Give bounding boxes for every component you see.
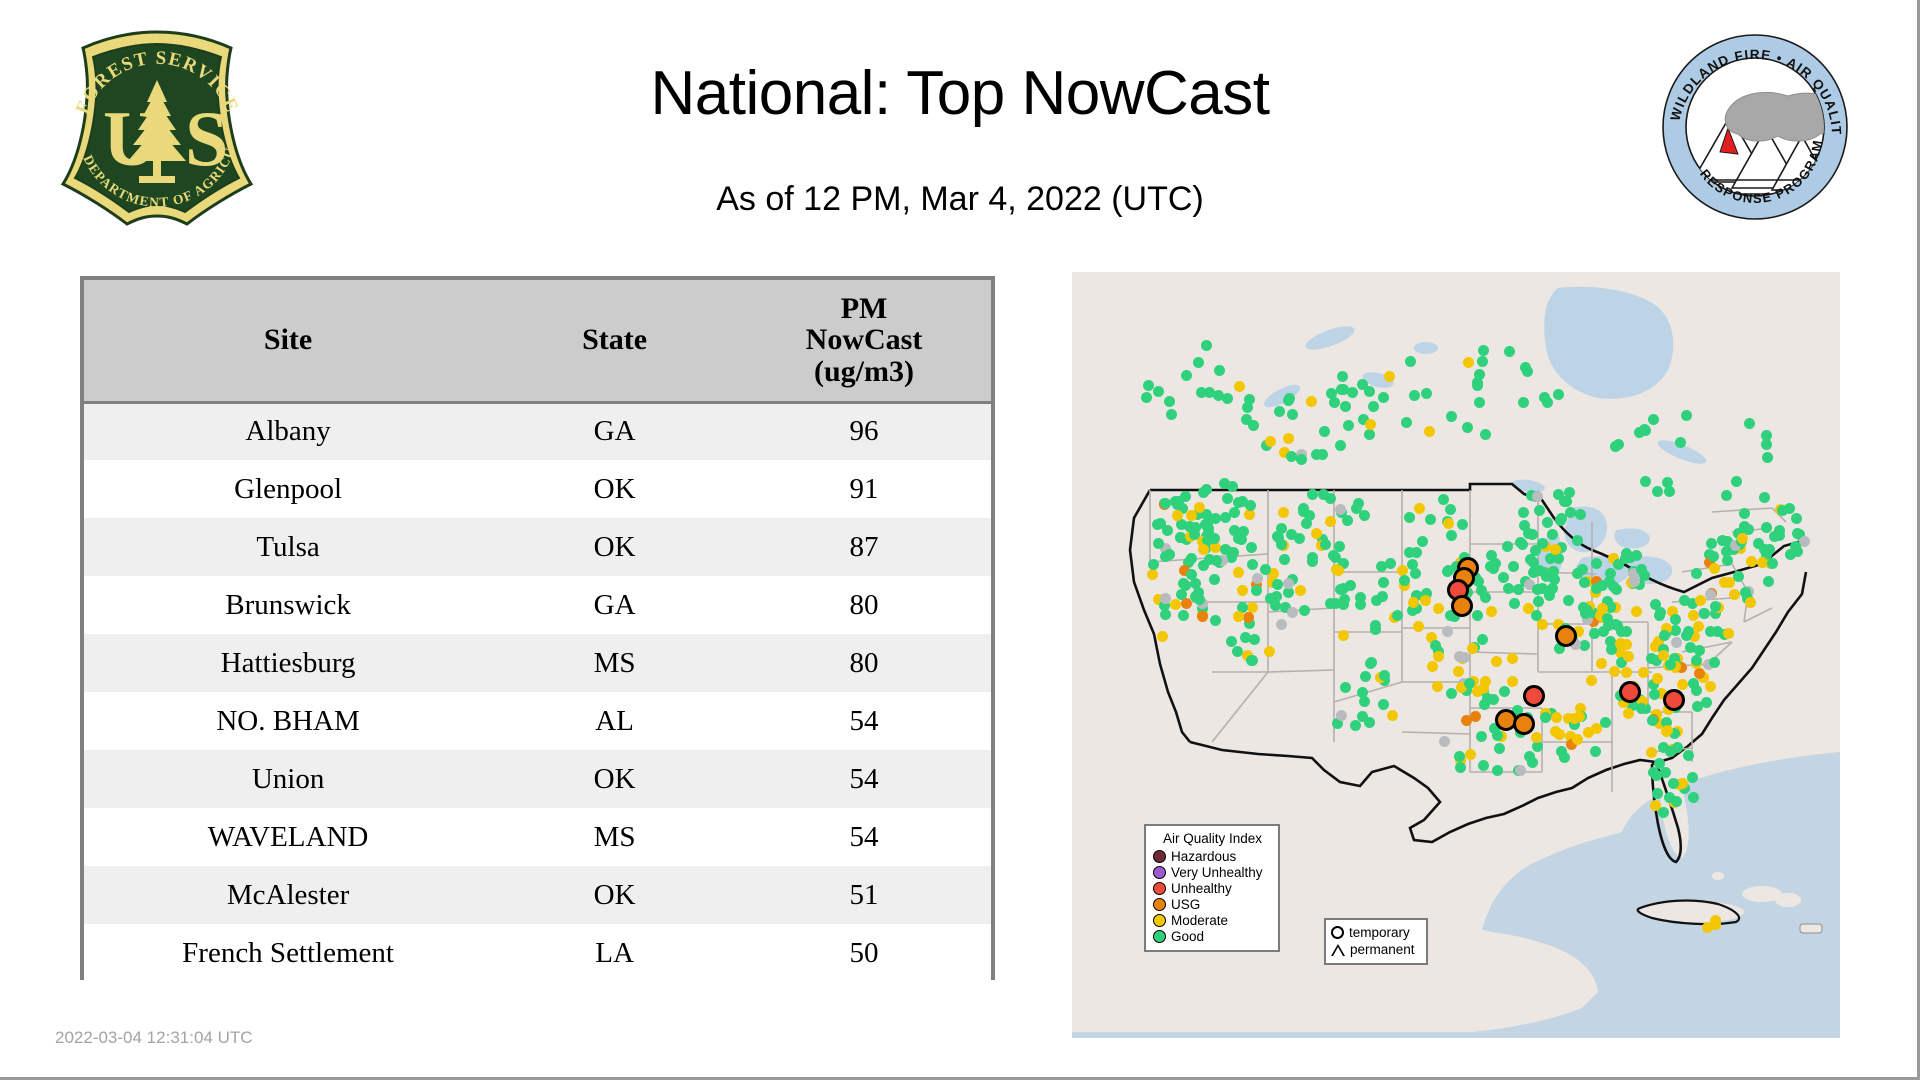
- monitor-dot: [1744, 418, 1755, 429]
- monitor-dot: [1474, 397, 1485, 408]
- legend-label: Unhealthy: [1171, 881, 1232, 896]
- monitor-dot: [1792, 528, 1803, 539]
- monitor-dot: [1287, 607, 1298, 618]
- monitor-dot: [1479, 699, 1490, 710]
- monitor-dot: [1371, 595, 1382, 606]
- monitor-dot: [1706, 538, 1717, 549]
- monitor-dot: [1575, 509, 1586, 520]
- monitor-dot: [1721, 546, 1732, 557]
- monitor-dot: [1691, 568, 1702, 579]
- monitor-dot: [1709, 563, 1720, 574]
- monitor-dot: [1410, 568, 1421, 579]
- cell-state: MS: [492, 634, 737, 692]
- monitor-dot: [1246, 542, 1257, 553]
- monitor-dot: [1283, 433, 1294, 444]
- legend-item-unhealthy: Unhealthy: [1153, 880, 1272, 896]
- monitor-dot: [1160, 593, 1171, 604]
- monitor-dot: [1488, 694, 1499, 705]
- legend-item-very-unhealthy: Very Unhealthy: [1153, 864, 1272, 880]
- monitor-dot: [1446, 530, 1457, 541]
- monitor-dot: [1504, 346, 1515, 357]
- cell-site: Hattiesburg: [84, 634, 492, 692]
- monitor-dot: [1424, 426, 1435, 437]
- cell-state: LA: [492, 924, 737, 982]
- column-header-site: Site: [84, 280, 492, 402]
- monitor-dot: [1457, 519, 1468, 530]
- monitor-dot: [1508, 561, 1519, 572]
- legend-swatch-icon: [1153, 914, 1166, 927]
- monitor-dot: [1695, 595, 1706, 606]
- monitor-dot: [1631, 606, 1642, 617]
- monitor-dot: [1729, 589, 1740, 600]
- monitor-dot: [1549, 574, 1560, 585]
- monitor-dot: [1247, 559, 1258, 570]
- monitor-dot: [1671, 796, 1682, 807]
- monitor-dot: [1621, 548, 1632, 559]
- cell-value: 80: [737, 576, 991, 634]
- monitor-dot: [1688, 678, 1699, 689]
- table-row: TulsaOK87: [84, 518, 991, 576]
- monitor-dot: [1338, 630, 1349, 641]
- monitor-dot: [1461, 715, 1472, 726]
- monitor-dot: [1623, 651, 1634, 662]
- monitor-dot: [1164, 396, 1175, 407]
- legend-title: Air Quality Index: [1153, 831, 1272, 846]
- monitor-dot: [1739, 508, 1750, 519]
- monitor-dot: [1649, 689, 1660, 700]
- monitor-dot: [1384, 371, 1395, 382]
- monitor-dot: [1222, 393, 1233, 404]
- monitor-dot: [1693, 621, 1704, 632]
- monitor-dot: [1193, 357, 1204, 368]
- monitor-dot: [1652, 788, 1663, 799]
- monitor-dot: [1248, 420, 1259, 431]
- monitor-dot: [1143, 380, 1154, 391]
- monitor-dot: [1563, 595, 1574, 606]
- monitor-dot: [1757, 557, 1768, 568]
- monitor-dot: [1687, 772, 1698, 783]
- monitor-dot: [1671, 637, 1682, 648]
- monitor-dot: [1659, 630, 1670, 641]
- monitor-dot: [1647, 715, 1658, 726]
- cell-site: McAlester: [84, 866, 492, 924]
- monitor-dot: [1296, 454, 1307, 465]
- monitor-dot: [1347, 387, 1358, 398]
- monitor-dot: [1723, 628, 1734, 639]
- monitor-dot: [1385, 558, 1396, 569]
- monitor-dot: [1333, 565, 1344, 576]
- legend-item-good: Good: [1153, 928, 1272, 944]
- monitor-dot: [1271, 591, 1282, 602]
- cell-site: NO. BHAM: [84, 692, 492, 750]
- monitor-dot: [1227, 481, 1238, 492]
- monitor-dot: [1408, 597, 1419, 608]
- monitor-dot: [1518, 397, 1529, 408]
- monitor-dot-highlight: [1663, 689, 1685, 711]
- map-legend-air-quality-index: Air Quality Index HazardousVery Unhealth…: [1144, 824, 1280, 952]
- monitor-dot: [1724, 577, 1735, 588]
- cell-value: 54: [737, 692, 991, 750]
- monitor-dot: [1176, 589, 1187, 600]
- monitor-dot: [1201, 340, 1212, 351]
- monitor-dot: [1439, 736, 1450, 747]
- monitor-dot: [1421, 388, 1432, 399]
- table-row: GlenpoolOK91: [84, 460, 991, 518]
- cell-value: 54: [737, 808, 991, 866]
- legend-item-hazardous: Hazardous: [1153, 848, 1272, 864]
- monitor-dot: [1365, 419, 1376, 430]
- legend-label-permanent: permanent: [1350, 942, 1415, 957]
- monitor-dot: [1413, 621, 1424, 632]
- monitor-dot: [1731, 476, 1742, 487]
- monitor-dot: [1559, 752, 1570, 763]
- monitor-dot: [1485, 561, 1496, 572]
- monitor-dot: [1685, 642, 1696, 653]
- monitor-dot: [1522, 366, 1533, 377]
- monitor-dot: [1518, 507, 1529, 518]
- legend-label: USG: [1171, 897, 1200, 912]
- monitor-dot: [1442, 626, 1453, 637]
- monitor-dot: [1777, 505, 1788, 516]
- monitor-dot-highlight: [1451, 595, 1473, 617]
- monitor-dot: [1705, 589, 1716, 600]
- monitor-dot: [1701, 697, 1712, 708]
- monitor-dot: [1279, 554, 1290, 565]
- column-header-pm-nowcast: PM NowCast (ug/m3): [737, 280, 991, 402]
- monitor-dot: [1746, 556, 1757, 567]
- legend-item-moderate: Moderate: [1153, 912, 1272, 928]
- table-row: UnionOK54: [84, 750, 991, 808]
- table-row: BrunswickGA80: [84, 576, 991, 634]
- monitor-dot: [1243, 612, 1254, 623]
- monitor-dot: [1337, 371, 1348, 382]
- monitor-dot: [1486, 606, 1497, 617]
- cell-state: GA: [492, 402, 737, 460]
- cell-state: OK: [492, 750, 737, 808]
- cell-state: OK: [492, 866, 737, 924]
- page-subtitle: As of 12 PM, Mar 4, 2022 (UTC): [420, 180, 1500, 219]
- monitor-dot: [1553, 389, 1564, 400]
- monitor-dot: [1233, 497, 1244, 508]
- monitor-dot: [1197, 611, 1208, 622]
- monitor-dot: [1477, 634, 1488, 645]
- svg-text:S: S: [185, 95, 228, 182]
- monitor-dot: [1502, 541, 1513, 552]
- monitor-dot: [1708, 551, 1719, 562]
- monitor-dot: [1276, 619, 1287, 630]
- monitor-dot: [1532, 584, 1543, 595]
- monitor-dot: [1379, 670, 1390, 681]
- monitor-dot: [1233, 611, 1244, 622]
- monitor-dot: [1193, 593, 1204, 604]
- monitor-dot: [1591, 558, 1602, 569]
- monitor-dot: [1181, 370, 1192, 381]
- monitor-dot: [1753, 538, 1764, 549]
- cell-state: GA: [492, 576, 737, 634]
- legend-swatch-icon: [1153, 930, 1166, 943]
- monitor-dot: [1392, 610, 1403, 621]
- monitor-dot: [1658, 807, 1669, 818]
- monitor-dot: [1531, 732, 1542, 743]
- monitor-dot: [1405, 356, 1416, 367]
- monitor-dot: [1476, 731, 1487, 742]
- legend-label: Very Unhealthy: [1171, 865, 1263, 880]
- monitor-dot: [1287, 409, 1298, 420]
- monitor-dot: [1335, 440, 1346, 451]
- monitor-dot: [1164, 549, 1175, 560]
- column-header-pm-line1: PM: [737, 293, 991, 325]
- monitor-dot: [1166, 409, 1177, 420]
- monitor-dot: [1590, 746, 1601, 757]
- monitor-dot: [1527, 757, 1538, 768]
- monitor-dot-highlight: [1513, 713, 1535, 735]
- monitor-dot: [1740, 587, 1751, 598]
- monitor-dot: [1532, 491, 1543, 502]
- monitor-dot: [1411, 547, 1422, 558]
- monitor-dot: [1342, 515, 1353, 526]
- monitor-dot: [1579, 640, 1590, 651]
- legend-item-temporary: temporary: [1331, 924, 1421, 941]
- monitor-dot: [1478, 760, 1489, 771]
- monitor-dot: [1294, 533, 1305, 544]
- top-nowcast-table: Site State PM NowCast (ug/m3) AlbanyGA96…: [80, 276, 995, 980]
- cell-state: OK: [492, 460, 737, 518]
- cell-value: 96: [737, 402, 991, 460]
- monitor-dot: [1184, 521, 1195, 532]
- monitor-dot: [1343, 420, 1354, 431]
- monitor-dot: [1499, 686, 1510, 697]
- monitor-dot: [1446, 688, 1457, 699]
- cell-state: MS: [492, 808, 737, 866]
- monitor-dot: [1355, 592, 1366, 603]
- monitor-dot: [1463, 357, 1474, 368]
- monitor-dot: [1399, 575, 1410, 586]
- cell-value: 87: [737, 518, 991, 576]
- monitor-dot: [1186, 553, 1197, 564]
- monitor-dot: [1336, 384, 1347, 395]
- monitor-dot: [1178, 578, 1189, 589]
- legend-label: Good: [1171, 929, 1204, 944]
- monitor-dot: [1311, 528, 1322, 539]
- monitor-dot: [1364, 386, 1375, 397]
- monitor-dot: [1368, 401, 1379, 412]
- wildland-fire-air-quality-response-program-logo: WILDLAND FIRE • AIR QUALITY RESPONSE PRO…: [1660, 32, 1850, 222]
- monitor-dot: [1553, 553, 1564, 564]
- cell-value: 54: [737, 750, 991, 808]
- monitor-dot: [1745, 597, 1756, 608]
- cell-state: AL: [492, 692, 737, 750]
- cell-value: 91: [737, 460, 991, 518]
- monitor-dot: [1222, 493, 1233, 504]
- monitor-dot: [1660, 767, 1671, 778]
- monitor-dot: [1417, 536, 1428, 547]
- monitor-dot: [1433, 603, 1444, 614]
- monitor-dot: [1523, 528, 1534, 539]
- monitor-dot: [1662, 725, 1673, 736]
- monitor-dot: [1186, 510, 1197, 521]
- monitor-dot: [1453, 666, 1464, 677]
- monitor-dot: [1160, 498, 1171, 509]
- monitor-dot: [1465, 749, 1476, 760]
- monitor-dot: [1414, 503, 1425, 514]
- monitor-dot: [1420, 595, 1431, 606]
- monitor-dot: [1214, 365, 1225, 376]
- monitor-dot: [1591, 723, 1602, 734]
- monitor-dot: [1491, 656, 1502, 667]
- monitor-dot: [1646, 747, 1657, 758]
- monitor-dot: [1295, 585, 1306, 596]
- monitor-dot: [1319, 426, 1330, 437]
- monitor-dot: [1209, 533, 1220, 544]
- monitor-dot: [1209, 574, 1220, 585]
- monitor-dot: [1569, 713, 1580, 724]
- cell-value: 80: [737, 634, 991, 692]
- monitor-dot: [1264, 646, 1275, 657]
- monitor-dot: [1498, 572, 1509, 583]
- cell-site: French Settlement: [84, 924, 492, 982]
- monitor-dot: [1577, 564, 1588, 575]
- legend-swatch-icon: [1153, 850, 1166, 863]
- monitor-dot: [1670, 614, 1681, 625]
- monitor-dot: [1621, 639, 1632, 650]
- legend-item-usg: USG: [1153, 896, 1272, 912]
- monitor-dot: [1265, 436, 1276, 447]
- monitor-dot: [1178, 610, 1189, 621]
- legend-swatch-icon: [1153, 866, 1166, 879]
- page-title: National: Top NowCast: [420, 58, 1500, 129]
- monitor-dot: [1283, 587, 1294, 598]
- monitor-dot: [1646, 653, 1657, 664]
- monitor-dot: [1515, 765, 1526, 776]
- monitor-dot: [1572, 535, 1583, 546]
- monitor-dot: [1378, 577, 1389, 588]
- monitor-dot: [1507, 653, 1518, 664]
- monitor-dot: [1648, 414, 1659, 425]
- monitor-dot: [1378, 699, 1389, 710]
- monitor-dot: [1404, 512, 1415, 523]
- table-header-row: Site State PM NowCast (ug/m3): [84, 280, 991, 402]
- monitor-dot: [1237, 585, 1248, 596]
- monitor-dot: [1605, 568, 1616, 579]
- monitor-dot: [1623, 708, 1634, 719]
- table-row: McAlesterOK51: [84, 866, 991, 924]
- monitor-dot: [1517, 539, 1528, 550]
- monitor-dot: [1454, 751, 1465, 762]
- monitor-dot-highlight: [1619, 681, 1641, 703]
- monitor-dot: [1668, 778, 1679, 789]
- column-header-pm-line2: NowCast: [737, 324, 991, 356]
- monitor-dot: [1370, 620, 1381, 631]
- monitor-dot: [1494, 743, 1505, 754]
- monitor-dot: [1762, 452, 1773, 463]
- monitor-dot: [1705, 681, 1716, 692]
- monitor-dot: [1586, 675, 1597, 686]
- monitor-dot: [1597, 603, 1608, 614]
- cell-site: Albany: [84, 402, 492, 460]
- monitor-dot: [1537, 538, 1548, 549]
- legend-label: Moderate: [1171, 913, 1228, 928]
- monitor-dot: [1791, 513, 1802, 524]
- monitor-dot: [1492, 765, 1503, 776]
- monitor-dot: [1240, 632, 1251, 643]
- monitor-dot: [1523, 603, 1534, 614]
- monitor-dot: [1509, 598, 1520, 609]
- monitor-dot: [1640, 476, 1651, 487]
- monitor-dot: [1688, 792, 1699, 803]
- monitor-dot: [1401, 417, 1412, 428]
- monitor-dot: [1542, 517, 1553, 528]
- monitor-dot: [1737, 533, 1748, 544]
- column-header-pm-line3: (ug/m3): [737, 356, 991, 388]
- monitor-dot: [1652, 486, 1663, 497]
- monitor-dot: [1172, 499, 1183, 510]
- monitor-dot: [1665, 659, 1676, 670]
- monitor-dot: [1226, 636, 1237, 647]
- monitor-dot: [1234, 381, 1245, 392]
- aqi-national-map[interactable]: Air Quality Index HazardousVery Unhealth…: [1072, 272, 1840, 1038]
- monitor-dot: [1430, 640, 1441, 651]
- monitor-dot: [1298, 506, 1309, 517]
- monitor-dot: [1638, 667, 1649, 678]
- monitor-dot: [1472, 380, 1483, 391]
- table-row: AlbanyGA96: [84, 402, 991, 460]
- monitor-dot: [1609, 666, 1620, 677]
- monitor-dot: [1540, 712, 1551, 723]
- monitor-dot: [1425, 514, 1436, 525]
- monitor-dot: [1325, 598, 1336, 609]
- monitor-dot: [1233, 567, 1244, 578]
- monitor-dot: [1387, 710, 1398, 721]
- monitor-dot: [1364, 429, 1375, 440]
- monitor-dot: [1537, 619, 1548, 630]
- monitor-dot: [1378, 392, 1389, 403]
- monitor-dot: [1591, 583, 1602, 594]
- monitor-dot: [1443, 518, 1454, 529]
- monitor-dot: [1761, 522, 1772, 533]
- monitor-dot: [1170, 599, 1181, 610]
- monitor-dot: [1181, 598, 1192, 609]
- monitor-dot: [1307, 556, 1318, 567]
- monitor-dot: [1554, 729, 1565, 740]
- monitor-dot: [1318, 489, 1329, 500]
- monitor-dot: [1306, 396, 1317, 407]
- monitor-dot: [1598, 626, 1609, 637]
- monitor-dot: [1172, 510, 1183, 521]
- monitor-dot: [1220, 512, 1231, 523]
- monitor-dot: [1446, 411, 1457, 422]
- monitor-dot: [1455, 762, 1466, 773]
- monitor-dot: [1709, 657, 1720, 668]
- legend-label-temporary: temporary: [1349, 925, 1410, 940]
- column-header-state: State: [492, 280, 737, 402]
- monitor-dot: [1677, 679, 1688, 690]
- monitor-dot: [1438, 494, 1449, 505]
- monitor-dot: [1160, 609, 1171, 620]
- monitor-dot-highlight: [1523, 685, 1545, 707]
- monitor-dot: [1141, 392, 1152, 403]
- table-row: French SettlementLA50: [84, 924, 991, 982]
- monitor-dot: [1194, 502, 1205, 513]
- legend-swatch-icon: [1153, 898, 1166, 911]
- monitor-dot: [1478, 345, 1489, 356]
- monitor-dot: [1681, 410, 1692, 421]
- monitor-dot: [1320, 539, 1331, 550]
- monitor-dot: [1492, 730, 1503, 741]
- monitor-dot: [1631, 550, 1642, 561]
- triangle-outline-icon: [1331, 944, 1345, 956]
- monitor-dot: [1210, 615, 1221, 626]
- monitor-dot: [1613, 439, 1624, 450]
